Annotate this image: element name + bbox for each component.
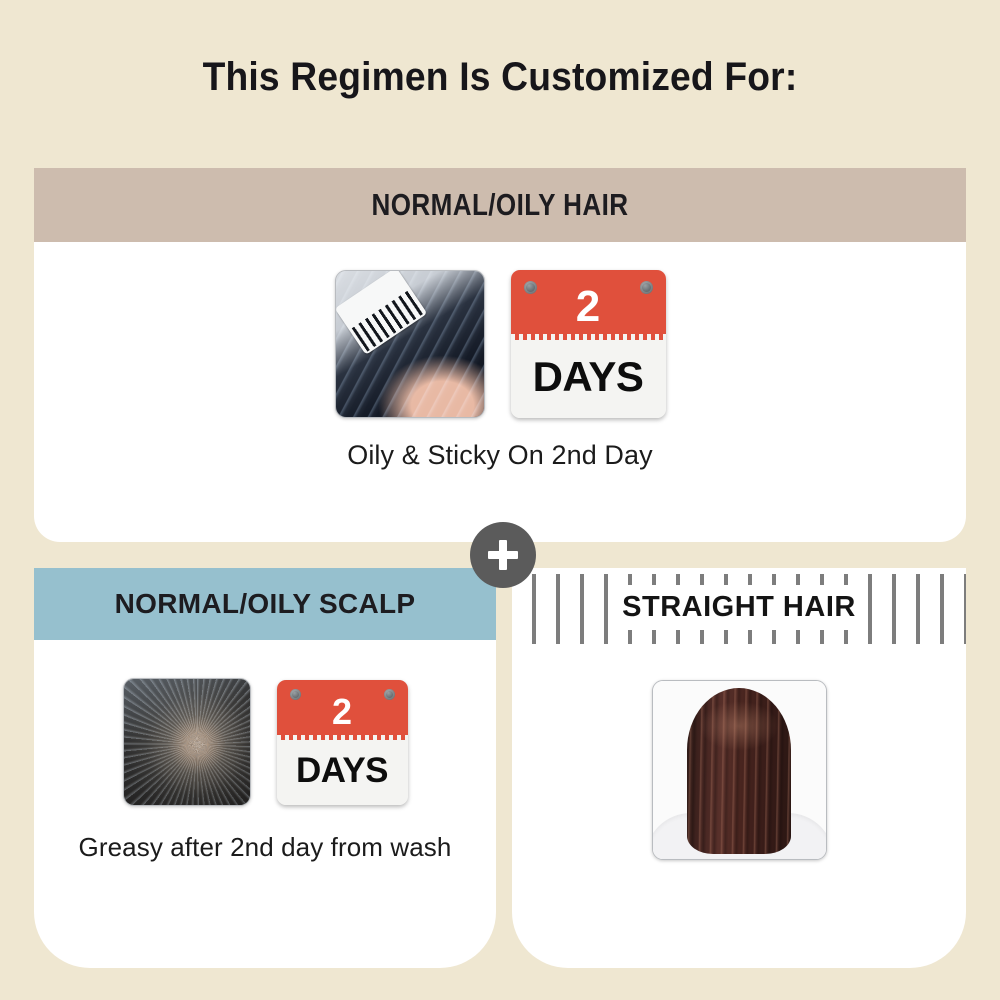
calendar-perforation (511, 334, 666, 340)
card-body-normal-oily-hair: 2 DAYS Oily & Sticky On 2nd Day (34, 242, 966, 542)
calendar-grommet-right-icon (384, 689, 395, 700)
plus-divider-icon (470, 522, 536, 588)
calendar-grommet-right-icon (640, 281, 653, 294)
card-header-label: NORMAL/OILY SCALP (115, 588, 416, 620)
straight-hair-shape (687, 688, 791, 854)
scalp-icon-row: 2 DAYS (123, 678, 408, 806)
card-header-normal-oily-hair: NORMAL/OILY HAIR (34, 168, 966, 242)
card-body-normal-oily-scalp: 2 DAYS Greasy after 2nd day from wash (34, 640, 496, 968)
calendar-unit-label: DAYS (296, 753, 388, 788)
card-header-label: STRAIGHT HAIR (610, 585, 868, 630)
scalp-caption: Greasy after 2nd day from wash (79, 832, 452, 863)
calendar-grommet-left-icon (524, 281, 537, 294)
card-normal-oily-scalp: NORMAL/OILY SCALP 2 DAYS Greas (34, 568, 496, 968)
calendar-icon-scalp: 2 DAYS (277, 680, 408, 805)
card-header-straight-hair: STRAIGHT HAIR (512, 568, 966, 646)
scalp-photo-sheen (124, 679, 250, 805)
oily-scalp-photo (123, 678, 251, 806)
straight-hair-shine (699, 701, 778, 751)
card-header-label: NORMAL/OILY HAIR (371, 187, 628, 223)
straight-hair-photo (652, 680, 827, 860)
calendar-grommet-left-icon (290, 689, 301, 700)
hair-caption: Oily & Sticky On 2nd Day (347, 440, 653, 471)
calendar-bottom: DAYS (277, 740, 408, 805)
calendar-top: 2 (277, 680, 408, 740)
page-title: This Regimen Is Customized For: (35, 55, 965, 100)
calendar-unit-label: DAYS (533, 356, 644, 398)
card-normal-oily-hair: NORMAL/OILY HAIR 2 DAYS Oily & (34, 168, 966, 542)
oily-hair-photo (335, 270, 485, 418)
calendar-top: 2 (511, 270, 666, 340)
card-body-straight-hair (512, 646, 966, 968)
card-straight-hair: STRAIGHT HAIR (512, 568, 966, 968)
calendar-perforation (277, 735, 408, 740)
calendar-icon-hair: 2 DAYS (511, 270, 666, 418)
calendar-number: 2 (576, 285, 600, 329)
calendar-number: 2 (332, 694, 352, 730)
calendar-bottom: DAYS (511, 340, 666, 418)
card-header-normal-oily-scalp: NORMAL/OILY SCALP (34, 568, 496, 640)
hair-icon-row: 2 DAYS (335, 270, 666, 418)
